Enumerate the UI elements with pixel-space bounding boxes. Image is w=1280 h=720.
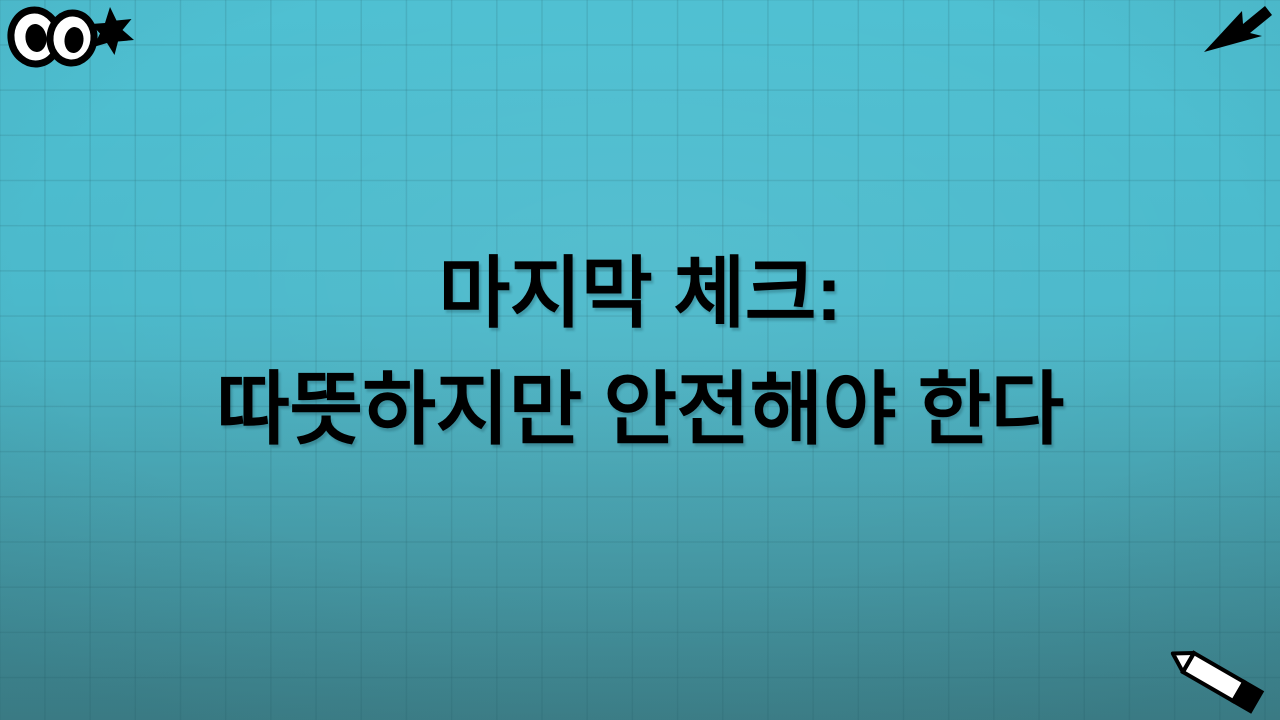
arrow-icon [1202, 2, 1274, 58]
page-title: 마지막 체크: 따뜻하지만 안전해야 한다 [0, 236, 1280, 470]
headline-line-1: 마지막 체크: [0, 236, 1280, 351]
star-icon [91, 7, 134, 55]
pencil-icon [1162, 644, 1272, 714]
headline-line-2: 따뜻하지만 안전해야 한다 [0, 351, 1280, 469]
eye-right [48, 11, 97, 65]
googly-eyes-icon [6, 4, 136, 70]
slide-canvas: 마지막 체크: 따뜻하지만 안전해야 한다 [0, 0, 1280, 720]
